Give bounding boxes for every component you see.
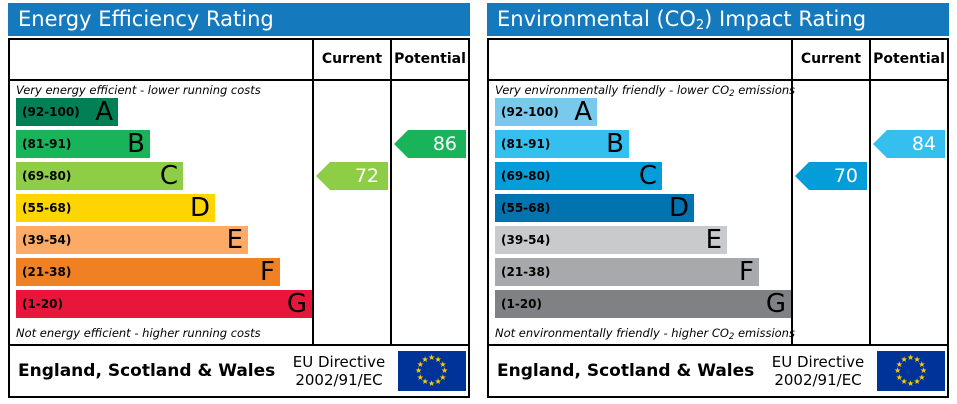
potential-column-divider bbox=[390, 40, 392, 344]
footer-environmental: England, Scotland & Wales EU Directive 2… bbox=[489, 346, 947, 396]
caption-bottom-energy: Not energy efficient - higher running co… bbox=[16, 326, 261, 340]
current-rating-arrow-energy: 72 bbox=[316, 162, 388, 190]
potential-rating-arrow-environmental: 84 bbox=[873, 130, 945, 158]
band-bar-b: (81-91)B bbox=[495, 130, 629, 158]
eu-flag-icon bbox=[398, 351, 466, 391]
band-letter-label: G bbox=[287, 291, 307, 317]
band-letter-label: B bbox=[606, 131, 624, 157]
footer-energy: England, Scotland & Wales EU Directive 2… bbox=[10, 346, 468, 396]
band-range-label: (81-91) bbox=[22, 137, 71, 151]
band-bar-d: (55-68)D bbox=[16, 194, 215, 222]
band-bar-g: (1-20)G bbox=[495, 290, 791, 318]
band-letter-label: B bbox=[127, 131, 145, 157]
band-letter-label: D bbox=[190, 195, 210, 221]
band-letter-label: C bbox=[160, 163, 178, 189]
current-column-divider bbox=[312, 40, 314, 344]
band-range-label: (1-20) bbox=[501, 297, 542, 311]
band-letter-label: G bbox=[766, 291, 786, 317]
band-bars-environmental: (92-100)A(81-91)B(69-80)C(55-68)D(39-54)… bbox=[495, 98, 787, 324]
footer-directive-label: EU Directive 2002/91/EC bbox=[286, 353, 392, 389]
caption-top-environmental: Very environmentally friendly - lower CO… bbox=[495, 83, 795, 97]
band-letter-label: E bbox=[227, 227, 243, 253]
footer-directive-label: EU Directive 2002/91/EC bbox=[765, 353, 871, 389]
band-range-label: (39-54) bbox=[22, 233, 71, 247]
band-range-label: (92-100) bbox=[501, 105, 559, 119]
energy-rating-table: Current Potential Very energy efficient … bbox=[8, 38, 470, 398]
band-bar-a: (92-100)A bbox=[16, 98, 118, 126]
caption-top-text: Very energy efficient - lower running co… bbox=[16, 83, 261, 97]
environmental-rating-table: Current Potential Very environmentally f… bbox=[487, 38, 949, 398]
band-letter-label: F bbox=[260, 259, 275, 285]
band-bar-g: (1-20)G bbox=[16, 290, 312, 318]
chart-title-energy: Energy Efficiency Rating bbox=[8, 3, 470, 36]
footer-region-label: England, Scotland & Wales bbox=[497, 361, 754, 381]
caption-bottom-environmental: Not environmentally friendly - higher CO… bbox=[495, 326, 795, 340]
caption-bottom-text: Not environmentally friendly - higher CO bbox=[495, 326, 729, 340]
band-range-label: (21-38) bbox=[501, 265, 550, 279]
chart-title-text: Environmental (CO bbox=[497, 7, 696, 31]
environmental-impact-rating-chart: Environmental (CO2) Impact Rating Curren… bbox=[479, 0, 957, 404]
chart-title-subscript: 2 bbox=[696, 18, 704, 33]
band-bar-e: (39-54)E bbox=[16, 226, 248, 254]
caption-bottom-subscript: 2 bbox=[729, 332, 734, 342]
band-range-label: (21-38) bbox=[22, 265, 71, 279]
band-letter-label: C bbox=[639, 163, 657, 189]
band-bar-c: (69-80)C bbox=[495, 162, 662, 190]
band-range-label: (81-91) bbox=[501, 137, 550, 151]
band-letter-label: D bbox=[669, 195, 689, 221]
band-bar-d: (55-68)D bbox=[495, 194, 694, 222]
header-divider bbox=[10, 79, 468, 81]
column-header-potential: Potential bbox=[392, 40, 468, 79]
band-letter-label: A bbox=[95, 99, 113, 125]
band-bar-f: (21-38)F bbox=[495, 258, 759, 286]
band-bars-energy: (92-100)A(81-91)B(69-80)C(55-68)D(39-54)… bbox=[16, 98, 308, 324]
band-letter-label: F bbox=[739, 259, 754, 285]
caption-bottom-text: Not energy efficient - higher running co… bbox=[16, 326, 261, 340]
chart-title-environmental: Environmental (CO2) Impact Rating bbox=[487, 3, 949, 36]
eu-flag-icon bbox=[877, 351, 945, 391]
band-range-label: (55-68) bbox=[22, 201, 71, 215]
column-header-current: Current bbox=[314, 40, 390, 79]
band-range-label: (39-54) bbox=[501, 233, 550, 247]
chart-title-tail: ) Impact Rating bbox=[704, 7, 866, 31]
band-range-label: (69-80) bbox=[501, 169, 550, 183]
directive-line-2: 2002/91/EC bbox=[286, 371, 392, 389]
directive-line-1: EU Directive bbox=[286, 353, 392, 371]
column-header-potential: Potential bbox=[871, 40, 947, 79]
header-divider bbox=[489, 79, 947, 81]
band-bar-e: (39-54)E bbox=[495, 226, 727, 254]
band-range-label: (1-20) bbox=[22, 297, 63, 311]
current-rating-arrow-environmental: 70 bbox=[795, 162, 867, 190]
directive-line-2: 2002/91/EC bbox=[765, 371, 871, 389]
band-bar-f: (21-38)F bbox=[16, 258, 280, 286]
footer-region-label: England, Scotland & Wales bbox=[18, 361, 275, 381]
directive-line-1: EU Directive bbox=[765, 353, 871, 371]
column-header-current: Current bbox=[793, 40, 869, 79]
band-bar-a: (92-100)A bbox=[495, 98, 597, 126]
potential-rating-arrow-energy: 86 bbox=[394, 130, 466, 158]
caption-top-tail: emissions bbox=[735, 83, 796, 97]
band-bar-b: (81-91)B bbox=[16, 130, 150, 158]
caption-top-text: Very environmentally friendly - lower CO bbox=[495, 83, 729, 97]
energy-efficiency-rating-chart: Energy Efficiency Rating Current Potenti… bbox=[0, 0, 478, 404]
epc-charts-page: Energy Efficiency Rating Current Potenti… bbox=[0, 0, 957, 404]
band-letter-label: A bbox=[574, 99, 592, 125]
caption-bottom-tail: emissions bbox=[734, 326, 795, 340]
potential-column-divider bbox=[869, 40, 871, 344]
band-range-label: (55-68) bbox=[501, 201, 550, 215]
band-letter-label: E bbox=[706, 227, 722, 253]
band-range-label: (92-100) bbox=[22, 105, 80, 119]
caption-top-energy: Very energy efficient - lower running co… bbox=[16, 83, 261, 97]
band-bar-c: (69-80)C bbox=[16, 162, 183, 190]
band-range-label: (69-80) bbox=[22, 169, 71, 183]
chart-title-text: Energy Efficiency Rating bbox=[18, 7, 274, 31]
